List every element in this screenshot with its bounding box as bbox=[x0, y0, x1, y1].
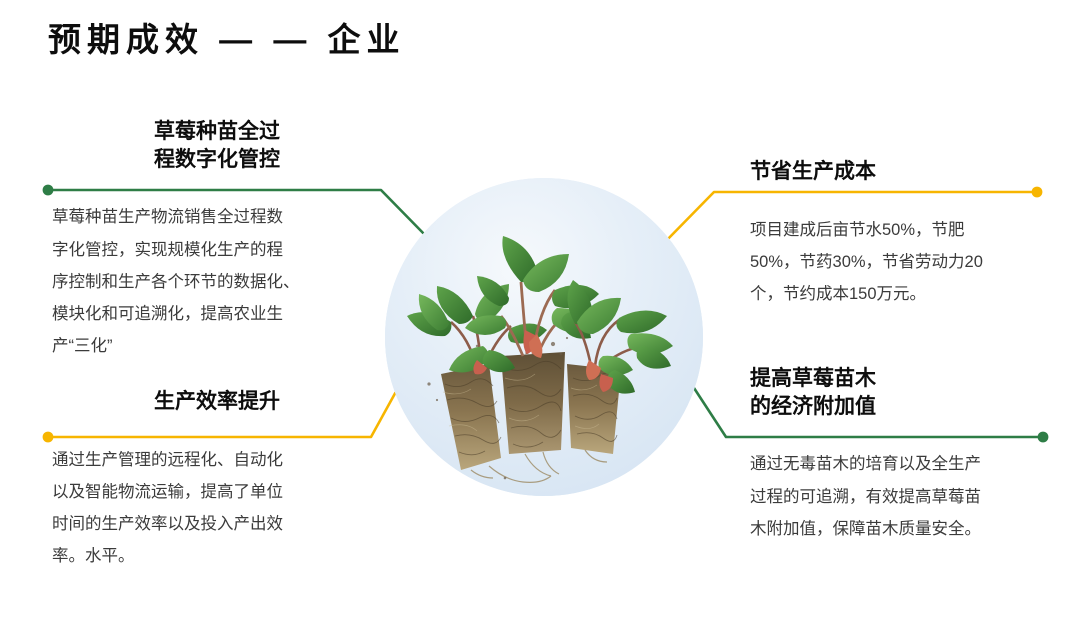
block-heading-bottom-left: 生产效率提升 bbox=[52, 388, 382, 416]
block-body-top-left: 草莓种苗生产物流销售全过程数 字化管控，实现规模化生产的程 序控制和生产各个环节… bbox=[52, 201, 382, 362]
block-heading-top-left: 草莓种苗全过 程数字化管控 bbox=[52, 118, 382, 173]
block-body-bottom-left: 通过生产管理的远程化、自动化 以及智能物流运输，提高了单位 时间的生产效率以及投… bbox=[52, 444, 382, 573]
page-title: 预期成效 — — 企业 bbox=[48, 19, 406, 62]
center-circular-photo bbox=[385, 178, 703, 496]
content-block-top-right: 节省生产成本 项目建成后亩节水50%，节肥 50%，节药30%，节省劳动力20 … bbox=[750, 158, 1050, 310]
strawberry-seedlings-illustration bbox=[385, 178, 703, 496]
block-heading-bottom-right: 提高草莓苗木 的经济附加值 bbox=[750, 365, 1050, 420]
content-block-top-left: 草莓种苗全过 程数字化管控 草莓种苗生产物流销售全过程数 字化管控，实现规模化生… bbox=[52, 118, 382, 362]
block-body-bottom-right: 通过无毒苗木的培育以及全生产 过程的可追溯，有效提高草莓苗 木附加值，保障苗木质… bbox=[750, 448, 1050, 545]
block-body-top-right: 项目建成后亩节水50%，节肥 50%，节药30%，节省劳动力20 个，节约成本1… bbox=[750, 214, 1050, 311]
slide-canvas: 预期成效 — — 企业 bbox=[0, 0, 1080, 624]
content-block-bottom-left: 生产效率提升 通过生产管理的远程化、自动化 以及智能物流运输，提高了单位 时间的… bbox=[52, 388, 382, 572]
block-heading-top-right: 节省生产成本 bbox=[750, 158, 1050, 186]
content-block-bottom-right: 提高草莓苗木 的经济附加值 通过无毒苗木的培育以及全生产 过程的可追溯，有效提高… bbox=[750, 365, 1050, 545]
